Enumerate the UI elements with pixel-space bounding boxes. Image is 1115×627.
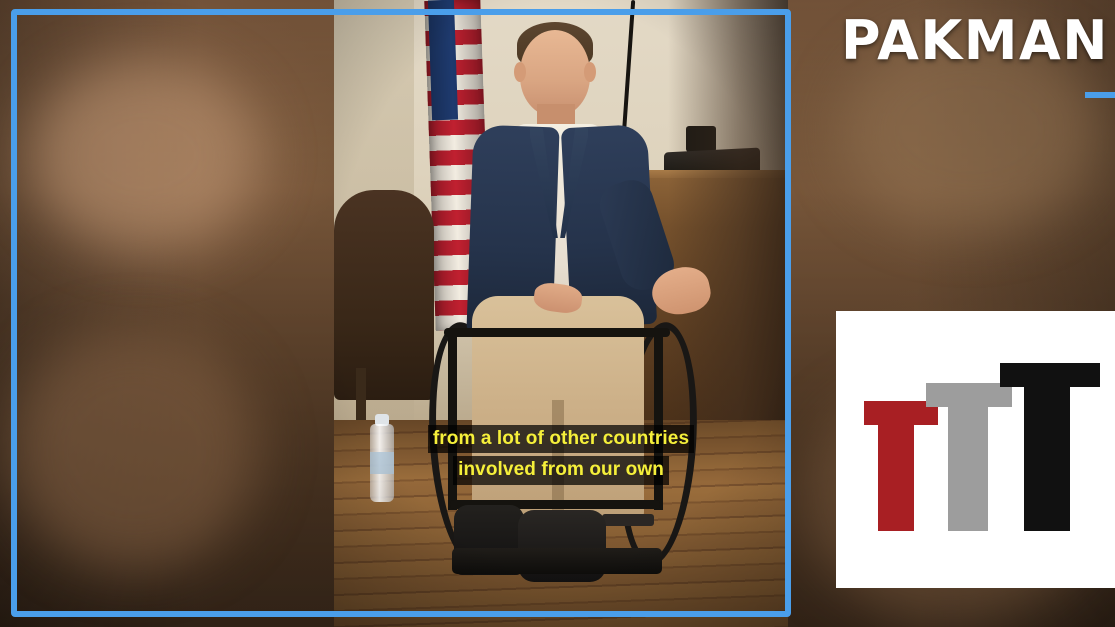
background-smudge-top-left [30,60,260,250]
tyt-logo-letters [864,363,1100,531]
pakman-wordmark: PAKMAN [841,14,1109,68]
caption-line-2: involved from our own [453,456,669,484]
tyt-letter-black-stem [1024,383,1070,531]
caption-overlay: from a lot of other countries involved f… [334,425,788,488]
ear-right [584,62,596,82]
caption-line-1: from a lot of other countries [428,425,694,453]
wheelchair-frame-top [444,328,670,337]
tyt-letter-red-stem [878,423,914,531]
seated-man [334,0,788,627]
ear-left [514,62,526,82]
background-smudge-bottom-left [10,330,260,570]
blue-frame-right-segment [1085,92,1115,98]
caption-row-1: from a lot of other countries [334,425,788,453]
tyt-logo-card [836,311,1115,588]
caption-row-2: involved from our own [334,456,788,484]
video-player-region[interactable] [334,0,788,627]
wheelchair-footplate [452,548,662,574]
leg-strap-right [602,514,654,526]
screenshot-stage: from a lot of other countries involved f… [0,0,1115,627]
tyt-letter-grey-stem [948,405,988,531]
